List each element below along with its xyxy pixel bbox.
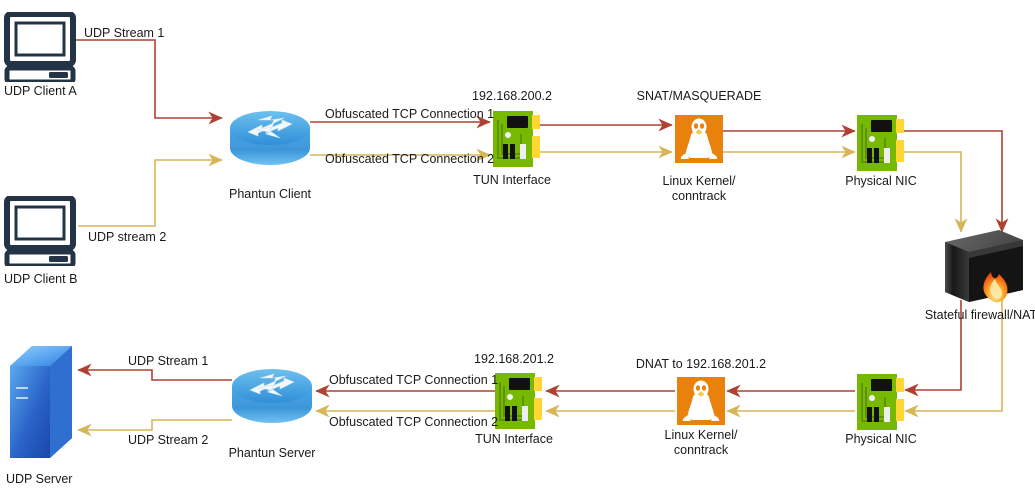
wire-client-b-to-phantun-client — [78, 160, 222, 226]
node-udp-client-b[interactable] — [4, 196, 76, 271]
network-card-icon — [856, 114, 906, 172]
node-tun-interface-bottom[interactable] — [494, 372, 544, 435]
desktop-computer-icon — [4, 196, 76, 266]
node-linux-kernel-bottom[interactable] — [677, 377, 725, 430]
node-label-udp-client-a: UDP Client A — [4, 84, 77, 98]
node-label-linux-kernel-bottom: Linux Kernel/ conntrack — [665, 428, 738, 458]
kernel-top-label-line2: conntrack — [663, 189, 736, 204]
node-physical-nic-bottom[interactable] — [856, 373, 906, 436]
edge-label-server-stream-2: UDP Stream 2 — [128, 433, 208, 447]
node-label-linux-kernel-top: Linux Kernel/ conntrack — [663, 174, 736, 204]
node-label-physical-nic-bottom: Physical NIC — [845, 432, 917, 447]
linux-penguin-icon — [675, 115, 723, 163]
node-phantun-server[interactable] — [230, 368, 314, 435]
edge-label-obfuscated-tcp-1-bottom: Obfuscated TCP Connection 1 — [329, 373, 498, 387]
firewall-flame-icon — [935, 228, 1027, 306]
network-card-icon — [492, 110, 542, 168]
wire-nic-top-to-firewall-2 — [901, 152, 961, 232]
desktop-computer-icon — [4, 12, 76, 82]
node-linux-kernel-top[interactable] — [675, 115, 723, 168]
kernel-bottom-label-line1: Linux Kernel/ — [665, 428, 738, 443]
router-icon — [228, 110, 312, 172]
edge-label-obfuscated-tcp-1-top: Obfuscated TCP Connection 1 — [325, 107, 494, 121]
node-udp-client-a[interactable] — [4, 12, 76, 87]
annotation-snat-masquerade: SNAT/MASQUERADE — [637, 89, 762, 103]
node-label-physical-nic-top: Physical NIC — [845, 174, 917, 189]
node-udp-server[interactable] — [6, 344, 76, 471]
network-diagram-canvas: UDP Client A UDP Client B — [0, 0, 1035, 490]
kernel-top-label-line1: Linux Kernel/ — [663, 174, 736, 189]
wire-phantun-server-to-udp-server-1 — [78, 370, 232, 380]
node-label-stateful-firewall: Stateful firewall/NAT — [925, 308, 1035, 323]
edge-label-obfuscated-tcp-2-bottom: Obfuscated TCP Connection 2 — [329, 415, 498, 429]
kernel-bottom-label-line2: conntrack — [665, 443, 738, 458]
wire-phantun-server-to-udp-server-2 — [78, 420, 232, 430]
node-label-tun-interface-top: TUN Interface — [473, 173, 551, 188]
node-phantun-client[interactable] — [228, 110, 312, 177]
node-label-phantun-server: Phantun Server — [229, 446, 316, 461]
edge-label-client-a-stream: UDP Stream 1 — [84, 26, 164, 40]
node-label-udp-client-b: UDP Client B — [4, 272, 77, 286]
node-stateful-firewall[interactable] — [935, 228, 1027, 311]
node-tun-interface-top[interactable] — [492, 110, 542, 173]
annotation-dnat: DNAT to 192.168.201.2 — [636, 357, 766, 371]
node-physical-nic-top[interactable] — [856, 114, 906, 177]
node-address-tun-interface-top: 192.168.200.2 — [472, 89, 552, 103]
edge-label-obfuscated-tcp-2-top: Obfuscated TCP Connection 2 — [325, 152, 494, 166]
server-tower-icon — [6, 344, 76, 466]
node-label-phantun-client: Phantun Client — [229, 187, 311, 202]
edge-label-server-stream-1: UDP Stream 1 — [128, 354, 208, 368]
node-label-tun-interface-bottom: TUN Interface — [475, 432, 553, 447]
node-label-udp-server: UDP Server — [6, 472, 72, 486]
network-card-icon — [494, 372, 544, 430]
node-address-tun-interface-bottom: 192.168.201.2 — [474, 352, 554, 366]
linux-penguin-icon — [677, 377, 725, 425]
wire-client-a-to-phantun-client — [75, 40, 222, 118]
router-icon — [230, 368, 314, 430]
edge-label-client-b-stream: UDP stream 2 — [88, 230, 166, 244]
network-card-icon — [856, 373, 906, 431]
